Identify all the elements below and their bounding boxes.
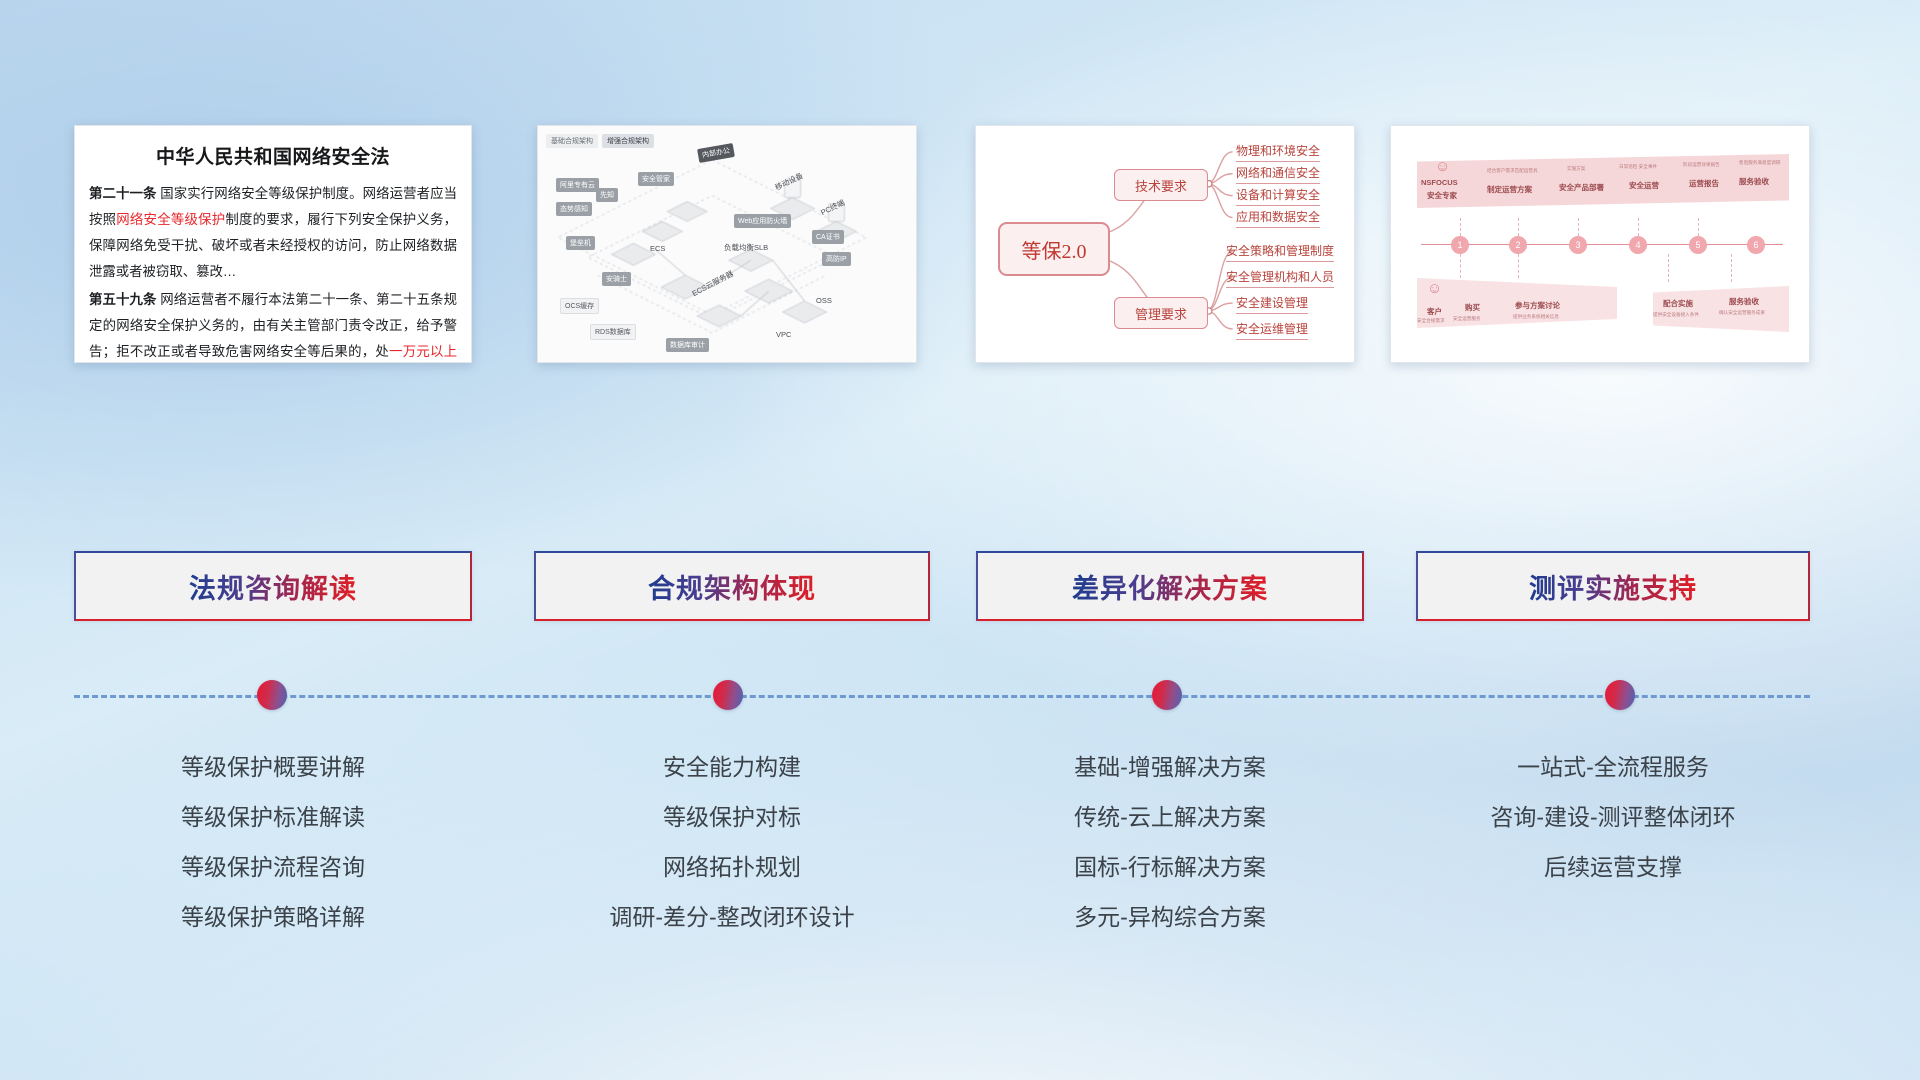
- law-body: 第二十一条 国家实行网络安全等级保护制度。网络运营者应当按照网络安全等级保护制度…: [75, 181, 471, 363]
- list-item: 咨询-建设-测评整体闭环: [1416, 792, 1810, 842]
- list-item: 等级保护对标: [534, 792, 930, 842]
- flow-node-5: 5: [1689, 236, 1707, 254]
- mindmap-leaf-application: 应用和数据安全: [1236, 208, 1320, 228]
- section-heading-box-1[interactable]: 法规咨询解读: [74, 551, 472, 621]
- mindmap-leaf-org: 安全管理机构和人员: [1226, 268, 1334, 288]
- slide-stage: 中华人民共和国网络安全法 第二十一条 国家实行网络安全等级保护制度。网络运营者应…: [0, 0, 1920, 1080]
- expert-avatar-icon: ☺: [1435, 158, 1450, 175]
- arch-node-private-cloud: 阿里专有云: [556, 178, 599, 192]
- arch-node-security-butler: 安全管家: [638, 172, 674, 186]
- arch-node-ocs-cache: OCS缓存: [560, 298, 599, 314]
- law-article-59: 第五十九条 网络运营者不履行本法第二十一条、第二十五条规定的网络安全保护义务的，…: [89, 287, 457, 363]
- flow-bottom-band-right: [1653, 286, 1789, 332]
- section-list-3: 基础-增强解决方案 传统-云上解决方案 国标-行标解决方案 多元-异构综合方案: [976, 742, 1364, 942]
- mindmap-leaf-policy: 安全策略和管理制度: [1226, 242, 1334, 262]
- mindmap-leaf-device: 设备和计算安全: [1236, 186, 1320, 206]
- arch-node-anqishi: 安骑士: [602, 272, 631, 286]
- flow-brand: NSFOCUS: [1421, 178, 1458, 187]
- list-item: 调研-差分-整改闭环设计: [534, 892, 930, 942]
- list-item: 等级保护策略详解: [74, 892, 472, 942]
- flow-tick-1: [1460, 218, 1461, 236]
- flow-step-2-title: 安全产品部署: [1559, 182, 1604, 193]
- list-item: 一站式-全流程服务: [1416, 742, 1810, 792]
- arch-node-ca-cert: CA证书: [812, 230, 844, 244]
- law-article-21-highlight: 网络安全等级保护: [116, 212, 225, 227]
- preview-card-service-flow[interactable]: ☺ NSFOCUS 安全专家 结合客户需求匹配运营具 制定运营方案 实施方案 安…: [1390, 125, 1810, 363]
- arch-node-rds: RDS数据库: [590, 324, 636, 340]
- flow-bottom-1-title: 购买: [1465, 302, 1480, 313]
- mindmap-leaf-physical: 物理和环境安全: [1236, 142, 1320, 162]
- list-item: 后续运营支撑: [1416, 842, 1810, 892]
- flow-bottom-2-title: 参与方案讨论: [1515, 300, 1560, 311]
- flow-node-2: 2: [1509, 236, 1527, 254]
- preview-card-mindmap[interactable]: 等保2.0 技术要求 管理要求 物理和环境安全 网络和通信安全 设备和计算安全 …: [975, 125, 1355, 363]
- arch-node-situational-awareness: 态势感知: [556, 202, 592, 216]
- mindmap-branch-technical: 技术要求: [1114, 169, 1208, 201]
- service-flow-diagram: ☺ NSFOCUS 安全专家 结合客户需求匹配运营具 制定运营方案 实施方案 安…: [1391, 126, 1809, 362]
- section-heading-label-4: 测评实施支持: [1529, 567, 1697, 606]
- list-item: 等级保护概要讲解: [74, 742, 472, 792]
- timeline-dot-4[interactable]: [1605, 680, 1635, 710]
- flow-tick-3: [1578, 218, 1579, 236]
- mindmap-leaf-construction: 安全建设管理: [1236, 294, 1308, 314]
- flow-step-2-sub: 实施方案: [1567, 166, 1585, 172]
- section-heading-label-1: 法规咨询解读: [189, 567, 357, 606]
- flow-node-6: 6: [1747, 236, 1765, 254]
- flow-bottom-3-title: 配合实施: [1663, 298, 1693, 309]
- arch-node-anti-ddos-ip: 高防IP: [822, 252, 851, 266]
- flow-bottom-4-title: 服务验收: [1729, 296, 1759, 307]
- flow-tick-4: [1638, 218, 1639, 236]
- list-item: 等级保护标准解读: [74, 792, 472, 842]
- list-item: 国标-行标解决方案: [976, 842, 1364, 892]
- mindmap-diagram: 等保2.0 技术要求 管理要求 物理和环境安全 网络和通信安全 设备和计算安全 …: [976, 126, 1354, 362]
- flow-step-4-sub: 阶段运营效果报告: [1683, 162, 1720, 168]
- flow-bottom-1-sub: 安全运营服务: [1453, 316, 1481, 322]
- flow-customer: 客户: [1427, 306, 1442, 317]
- timeline-dot-1[interactable]: [257, 680, 287, 710]
- flow-tick-9: [1731, 254, 1732, 282]
- section-heading-box-2[interactable]: 合规架构体现: [534, 551, 930, 621]
- mindmap-root-node: 等保2.0: [998, 222, 1110, 276]
- timeline-dashed-line: [74, 695, 1810, 698]
- flow-tick-8: [1668, 254, 1669, 282]
- law-article-21-label: 第二十一条: [89, 186, 156, 201]
- list-item: 多元-异构综合方案: [976, 892, 1364, 942]
- list-item: 等级保护流程咨询: [74, 842, 472, 892]
- flow-customer-sub: 安全合规需求: [1417, 318, 1445, 324]
- customer-avatar-icon: ☺: [1427, 280, 1442, 297]
- mindmap-leaf-network: 网络和通信安全: [1236, 164, 1320, 184]
- mindmap-branch-management: 管理要求: [1114, 297, 1208, 329]
- flow-brand-sub: 安全专家: [1427, 190, 1457, 201]
- preview-card-architecture[interactable]: 基础合规架构 增强合规架构: [537, 125, 917, 363]
- arch-node-bastion-host: 堡垒机: [566, 236, 595, 250]
- arch-node-vpc: VPC: [776, 330, 791, 339]
- timeline-dot-3[interactable]: [1152, 680, 1182, 710]
- flow-step-1-title: 制定运营方案: [1487, 184, 1532, 195]
- section-list-2: 安全能力构建 等级保护对标 网络拓扑规划 调研-差分-整改闭环设计: [534, 742, 930, 942]
- flow-tick-5: [1698, 218, 1699, 236]
- flow-step-5-title: 服务验收: [1739, 176, 1769, 187]
- flow-step-1-sub: 结合客户需求匹配运营具: [1487, 168, 1538, 174]
- list-item: 安全能力构建: [534, 742, 930, 792]
- flow-axis-line: [1421, 244, 1783, 245]
- preview-card-row: 中华人民共和国网络安全法 第二十一条 国家实行网络安全等级保护制度。网络运营者应…: [0, 125, 1920, 363]
- list-item: 传统-云上解决方案: [976, 792, 1364, 842]
- preview-card-law[interactable]: 中华人民共和国网络安全法 第二十一条 国家实行网络安全等级保护制度。网络运营者应…: [74, 125, 472, 363]
- list-item: 基础-增强解决方案: [976, 742, 1364, 792]
- flow-top-band: [1417, 154, 1789, 208]
- law-article-21: 第二十一条 国家实行网络安全等级保护制度。网络运营者应当按照网络安全等级保护制度…: [89, 181, 457, 285]
- law-title: 中华人民共和国网络安全法: [75, 142, 471, 169]
- section-heading-label-2: 合规架构体现: [648, 567, 816, 606]
- flow-tick-6: [1460, 254, 1461, 278]
- section-heading-label-3: 差异化解决方案: [1072, 567, 1268, 606]
- flow-step-5-sub: 售后服务满意度调研: [1739, 160, 1780, 166]
- flow-tick-7: [1518, 254, 1519, 278]
- flow-node-3: 3: [1569, 236, 1587, 254]
- list-item: 网络拓扑规划: [534, 842, 930, 892]
- section-heading-box-3[interactable]: 差异化解决方案: [976, 551, 1364, 621]
- flow-step-4-title: 运营报告: [1689, 178, 1719, 189]
- arch-node-ecs: ECS: [650, 244, 665, 253]
- flow-node-4: 4: [1629, 236, 1647, 254]
- law-article-59-label: 第五十九条: [89, 292, 156, 307]
- flow-step-3-title: 安全运营: [1629, 180, 1659, 191]
- section-list-1: 等级保护概要讲解 等级保护标准解读 等级保护流程咨询 等级保护策略详解: [74, 742, 472, 942]
- arch-node-waf: Web应用防火墙: [734, 214, 791, 228]
- arch-node-xianzhi: 先知: [596, 188, 618, 202]
- architecture-diagram: 基础合规架构 增强合规架构: [538, 126, 916, 362]
- flow-bottom-2-sub: 提供业务系统相关信息: [1513, 314, 1559, 320]
- flow-bottom-4-sub: 确认安全运营服务成果: [1719, 310, 1765, 316]
- flow-tick-2: [1518, 218, 1519, 236]
- section-heading-box-4[interactable]: 测评实施支持: [1416, 551, 1810, 621]
- arch-node-oss: OSS: [816, 296, 832, 305]
- flow-node-1: 1: [1451, 236, 1469, 254]
- mindmap-leaf-ops: 安全运维管理: [1236, 320, 1308, 340]
- arch-node-slb: 负载均衡SLB: [724, 242, 768, 253]
- arch-node-db-audit: 数据库审计: [666, 338, 709, 352]
- timeline-dot-2[interactable]: [713, 680, 743, 710]
- flow-bottom-3-sub: 提供安全设备接入条件: [1653, 312, 1699, 318]
- flow-step-3-sub: 日常巡检 安全事件: [1619, 164, 1657, 170]
- section-list-4: 一站式-全流程服务 咨询-建设-测评整体闭环 后续运营支撑: [1416, 742, 1810, 892]
